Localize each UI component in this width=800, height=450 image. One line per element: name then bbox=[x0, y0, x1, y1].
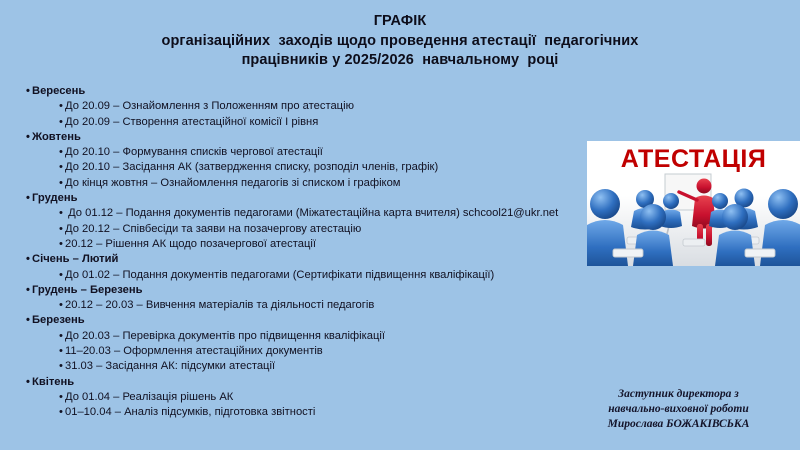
outline-text: До 01.02 – Подання документів педагогами… bbox=[65, 269, 494, 281]
outline-item: •До 01.04 – Реалізація рішень АК bbox=[26, 390, 586, 405]
outline-heading: •Грудень bbox=[26, 191, 586, 206]
outline-item: •До 01.02 – Подання документів педагогам… bbox=[26, 268, 586, 283]
outline-item: •До 20.09 – Створення атестаційної коміс… bbox=[26, 115, 586, 130]
outline-item: •До 20.03 – Перевірка документів про під… bbox=[26, 329, 586, 344]
outline-item: •До 20.09 – Ознайомлення з Положенням пр… bbox=[26, 99, 586, 114]
page-title: ГРАФІК організаційних заходів щодо прове… bbox=[0, 12, 800, 71]
outline-item: • До 01.12 – Подання документів педагога… bbox=[26, 206, 586, 221]
signature-line-2: навчально-виховної роботи bbox=[571, 402, 786, 417]
title-line-3: працівників у 2025/2026 навчальному році bbox=[0, 51, 800, 71]
outline-heading: •Квітень bbox=[26, 375, 586, 390]
outline-heading: •Жовтень bbox=[26, 130, 586, 145]
outline-text: До 20.09 – Ознайомлення з Положенням про… bbox=[65, 100, 354, 112]
title-line-1: ГРАФІК bbox=[0, 12, 800, 32]
outline-text: Вересень bbox=[32, 85, 85, 97]
attestation-illustration: АТЕСТАЦІЯ bbox=[587, 141, 800, 266]
outline-text: До 01.04 – Реалізація рішень АК bbox=[65, 391, 233, 403]
title-line-2: організаційних заходів щодо проведення а… bbox=[0, 32, 800, 52]
outline-heading: •Січень – Лютий bbox=[26, 252, 586, 267]
outline-text: До 20.10 – Формування списків чергової а… bbox=[65, 146, 323, 158]
outline-text: До кінця жовтня – Ознайомлення педагогів… bbox=[65, 177, 401, 189]
outline-item: •До 20.10 – Засідання АК (затвердження с… bbox=[26, 160, 586, 175]
outline-text: Грудень – Березень bbox=[32, 284, 143, 296]
outline-text: 11–20.03 – Оформлення атестаційних докум… bbox=[65, 345, 323, 357]
outline-heading: •Вересень bbox=[26, 84, 586, 99]
schedule-outline: •Вересень•До 20.09 – Ознайомлення з Поло… bbox=[26, 84, 586, 421]
outline-text: Жовтень bbox=[32, 131, 81, 143]
outline-item: •20.12 – 20.03 – Вивчення матеріалів та … bbox=[26, 298, 586, 313]
outline-heading: •Грудень – Березень bbox=[26, 283, 586, 298]
outline-text: До 20.03 – Перевірка документів про підв… bbox=[65, 330, 385, 342]
outline-item: •До 20.10 – Формування списків чергової … bbox=[26, 145, 586, 160]
outline-text: Грудень bbox=[32, 192, 78, 204]
outline-item: •До 20.12 – Співбесіди та заяви на позач… bbox=[26, 222, 586, 237]
outline-item: •11–20.03 – Оформлення атестаційних доку… bbox=[26, 344, 586, 359]
classroom-scene-graphic bbox=[587, 141, 800, 266]
signature-line-3: Мирослава БОЖАКІВСЬКА bbox=[571, 417, 786, 432]
outline-item: •20.12 – Рішення АК щодо позачергової ат… bbox=[26, 237, 586, 252]
outline-text: Січень – Лютий bbox=[32, 253, 118, 265]
outline-text: До 20.12 – Співбесіди та заяви на позаче… bbox=[65, 223, 361, 235]
outline-item: •До кінця жовтня – Ознайомлення педагогі… bbox=[26, 176, 586, 191]
signature-block: Заступник директора з навчально-виховної… bbox=[571, 387, 786, 432]
outline-text: Квітень bbox=[32, 376, 74, 388]
outline-text: 01–10.04 – Аналіз підсумків, підготовка … bbox=[65, 406, 315, 418]
slide-canvas: ГРАФІК організаційних заходів щодо прове… bbox=[0, 0, 800, 450]
outline-text: 20.12 – Рішення АК щодо позачергової ате… bbox=[65, 238, 316, 250]
outline-item: •31.03 – Засідання АК: підсумки атестаці… bbox=[26, 359, 586, 374]
outline-text: До 20.10 – Засідання АК (затвердження сп… bbox=[65, 161, 438, 173]
outline-text: 20.12 – 20.03 – Вивчення матеріалів та д… bbox=[65, 299, 374, 311]
outline-text: До 20.09 – Створення атестаційної комісі… bbox=[65, 116, 318, 128]
outline-heading: •Березень bbox=[26, 313, 586, 328]
outline-text: 31.03 – Засідання АК: підсумки атестації bbox=[65, 360, 275, 372]
signature-line-1: Заступник директора з bbox=[571, 387, 786, 402]
outline-text: До 01.12 – Подання документів педагогами… bbox=[65, 207, 558, 219]
outline-item: •01–10.04 – Аналіз підсумків, підготовка… bbox=[26, 405, 586, 420]
outline-text: Березень bbox=[32, 314, 85, 326]
